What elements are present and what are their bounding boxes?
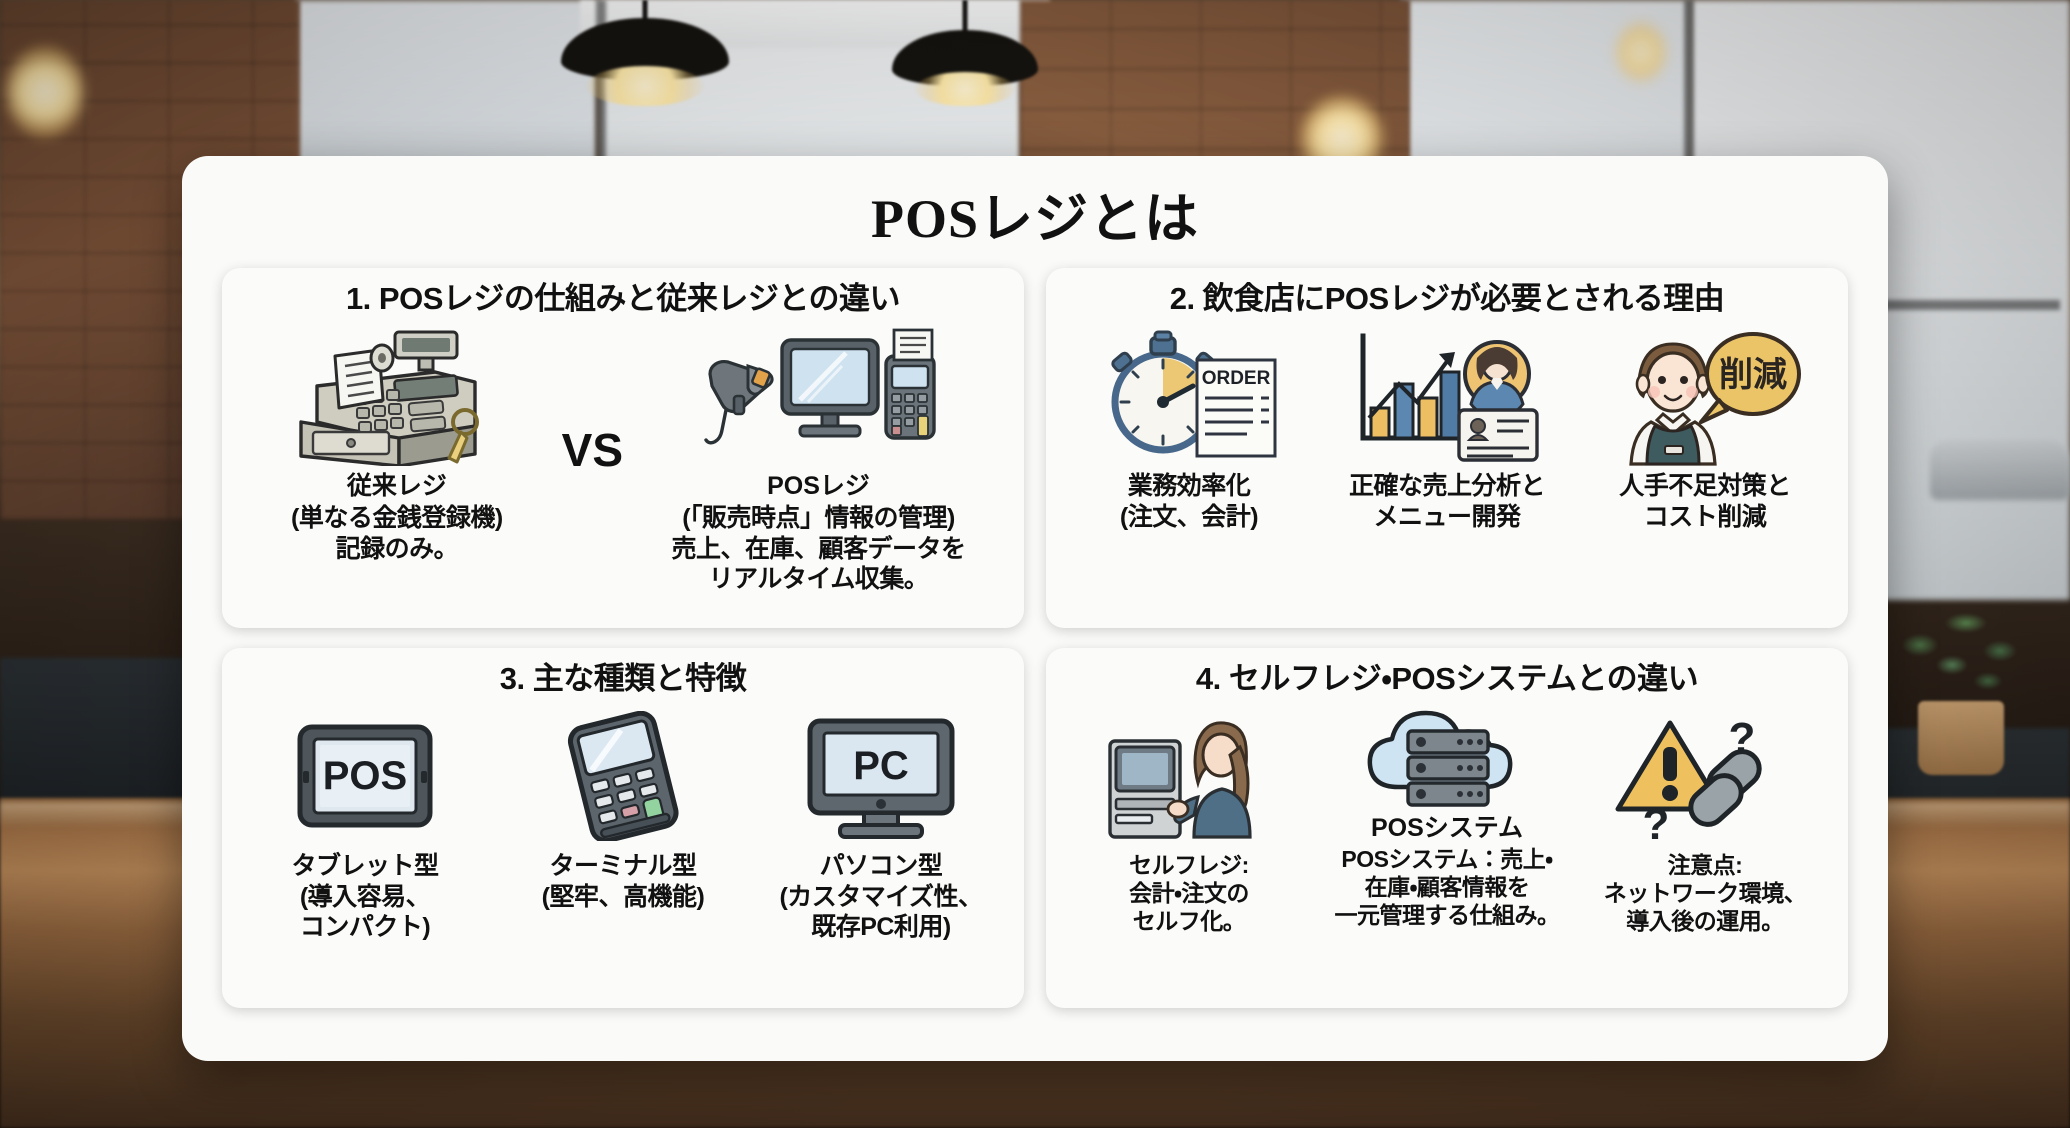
caution-item: ? ? 注意点: ネットワーク環境、 導入後の運用。 xyxy=(1576,701,1834,998)
efficiency-caption: 業務効率化 (注文、会計) xyxy=(1120,471,1258,532)
labor-cost-item: 削減 人手不足対策と コスト削減 xyxy=(1576,321,1834,618)
self-checkout-item: セルフレジ: 会計・注文の セルフ化。 xyxy=(1060,701,1318,998)
page-title: POSレジとは xyxy=(222,184,1848,254)
pc-type-item: PC パソコン型 (カスタマイズ性、 既存PC利用) xyxy=(752,701,1010,998)
pos-register-label: POSレジ xyxy=(767,471,870,501)
warning-chain-icon: ? ? xyxy=(1610,701,1800,851)
terminal-type-item: ターミナル型 (堅牢、高機能) xyxy=(494,701,752,998)
cloud-server-icon xyxy=(1352,701,1542,813)
bubble-text: 削減 xyxy=(1719,356,1787,394)
pos-system-item: POSシステム POSシステム：売上・ 在庫・顧客情報を 一元管理する仕組み。 xyxy=(1318,701,1576,998)
pc-screen-text: PC xyxy=(853,744,909,788)
terminal-type-caption: ターミナル型 (堅牢、高機能) xyxy=(542,851,705,912)
staff-reduction-icon: 削減 xyxy=(1605,321,1805,471)
panel-4-heading: 4. セルフレジ・POSシステムとの違い xyxy=(1060,660,1834,697)
self-checkout-icon xyxy=(1094,701,1284,851)
panel-2-body: ORDER 業務効率化 (注文、会計) xyxy=(1060,321,1834,618)
svg-text:ORDER: ORDER xyxy=(1202,368,1271,389)
pos-terminal-group-icon xyxy=(696,321,942,471)
pos-register-item: POSレジ (「販売時点」情報の管理) 売上、在庫、顧客データを リアルタイム収… xyxy=(627,321,1010,595)
traditional-register-label: 従来レジ xyxy=(347,471,447,501)
sales-analysis-item: 正確な売上分析と メニュー開発 xyxy=(1318,321,1576,618)
panel-3-body: POS タブレット型 (導入容易、 コンパクト) xyxy=(236,701,1010,998)
labor-cost-caption: 人手不足対策と コスト削減 xyxy=(1619,471,1791,532)
cash-register-icon xyxy=(287,321,507,471)
panel-1-heading: 1. POSレジの仕組みと従来レジとの違い xyxy=(236,280,1010,317)
tablet-type-caption: タブレット型 (導入容易、 コンパクト) xyxy=(291,851,438,943)
stopwatch-order-icon: ORDER xyxy=(1089,321,1289,471)
panel-2-heading: 2. 飲食店にPOSレジが必要とされる理由 xyxy=(1060,280,1834,317)
panel-self-checkout-vs-pos-system: 4. セルフレジ・POSシステムとの違い xyxy=(1046,648,1848,1008)
bar-chart-customer-icon xyxy=(1347,321,1547,471)
panel-grid: 1. POSレジの仕組みと従来レジとの違い xyxy=(222,268,1848,1008)
efficiency-item: ORDER 業務効率化 (注文、会計) xyxy=(1060,321,1318,618)
self-checkout-caption: セルフレジ: 会計・注文の セルフ化。 xyxy=(1129,851,1249,935)
pos-system-label: POSシステム xyxy=(1371,813,1523,843)
panel-pos-vs-traditional: 1. POSレジの仕組みと従来レジとの違い xyxy=(222,268,1024,628)
pc-type-caption: パソコン型 (カスタマイズ性、 既存PC利用) xyxy=(779,851,982,943)
panel-why-restaurants-need-pos: 2. 飲食店にPOSレジが必要とされる理由 xyxy=(1046,268,1848,628)
pc-monitor-icon: PC xyxy=(786,701,976,851)
caution-caption: 注意点: ネットワーク環境、 導入後の運用。 xyxy=(1604,851,1807,935)
sales-analysis-caption: 正確な売上分析と メニュー開発 xyxy=(1349,471,1545,532)
panel-3-heading: 3. 主な種類と特徴 xyxy=(236,660,1010,697)
panel-1-body: 従来レジ (単なる金銭登録機) 記録のみ。 VS xyxy=(236,321,1010,618)
question-mark-bottom: ? xyxy=(1643,800,1670,841)
panel-4-body: セルフレジ: 会計・注文の セルフ化。 xyxy=(1060,701,1834,998)
tablet-icon: POS xyxy=(270,701,460,851)
payment-terminal-icon xyxy=(528,701,718,851)
panel-types-and-features: 3. 主な種類と特徴 POS タブレット型 (導入容易、 コンパクト) xyxy=(222,648,1024,1008)
traditional-register-item: 従来レジ (単なる金銭登録機) 記録のみ。 xyxy=(236,321,558,564)
traditional-register-caption: (単なる金銭登録機) 記録のみ。 xyxy=(291,503,503,564)
pos-system-caption: POSシステム：売上・ 在庫・顧客情報を 一元管理する仕組み。 xyxy=(1335,845,1560,929)
tablet-type-item: POS タブレット型 (導入容易、 コンパクト) xyxy=(236,701,494,998)
pos-register-caption: (「販売時点」情報の管理) 売上、在庫、顧客データを リアルタイム収集。 xyxy=(672,503,966,595)
tablet-screen-text: POS xyxy=(323,754,407,798)
vs-label: VS xyxy=(558,423,627,477)
infographic-card: POSレジとは 1. POSレジの仕組みと従来レジとの違い xyxy=(182,156,1888,1061)
